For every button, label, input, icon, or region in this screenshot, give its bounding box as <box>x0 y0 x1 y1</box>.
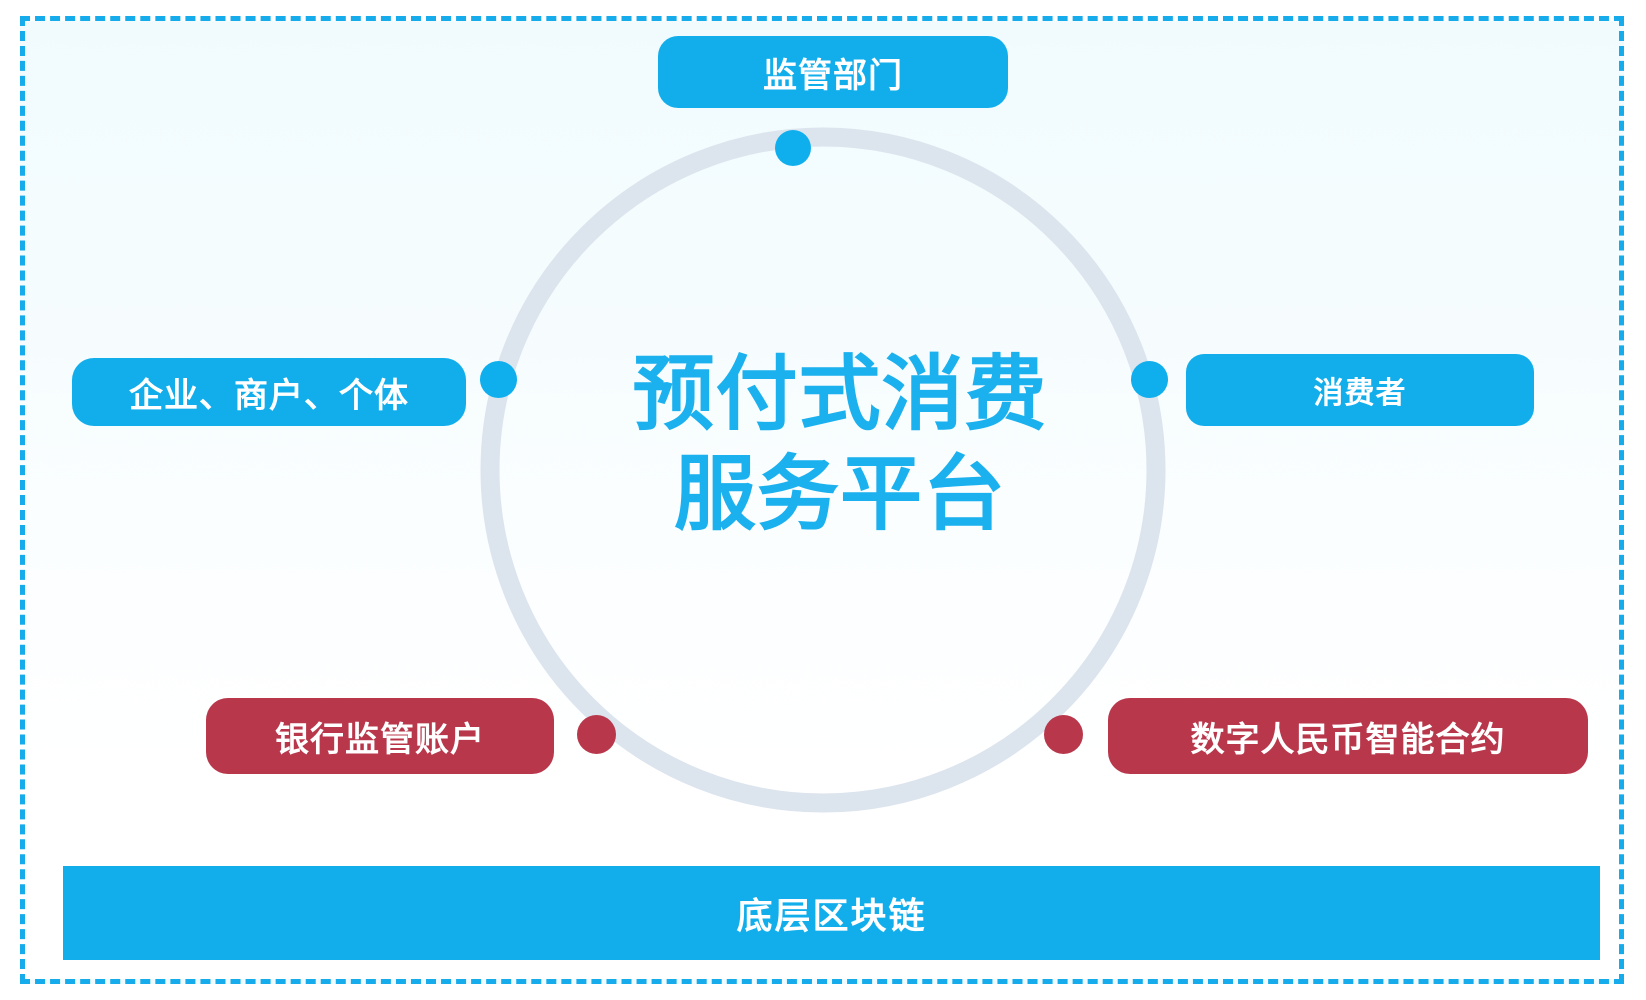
connector-dot-contract-icon <box>1044 715 1083 754</box>
node-regulator[interactable]: 监管部门 <box>658 36 1008 108</box>
connector-dot-bank-icon <box>577 715 616 754</box>
node-bank-supervision-account[interactable]: 银行监管账户 <box>206 698 554 774</box>
node-digital-rmb-smart-contract[interactable]: 数字人民币智能合约 <box>1108 698 1588 774</box>
connector-dot-regulator-icon <box>775 130 811 166</box>
foundation-blockchain-bar[interactable]: 底层区块链 <box>63 866 1600 960</box>
node-merchants[interactable]: 企业、商户、个体 <box>72 358 466 426</box>
node-consumers[interactable]: 消费者 <box>1186 354 1534 426</box>
connector-dot-consumers-icon <box>1131 361 1168 398</box>
center-platform-title: 预付式消费 服务平台 <box>560 345 1120 545</box>
diagram-canvas: 预付式消费 服务平台 监管部门 企业、商户、个体 消费者 银行监管账户 数字人民… <box>0 0 1646 1000</box>
connector-dot-merchants-icon <box>480 361 517 398</box>
